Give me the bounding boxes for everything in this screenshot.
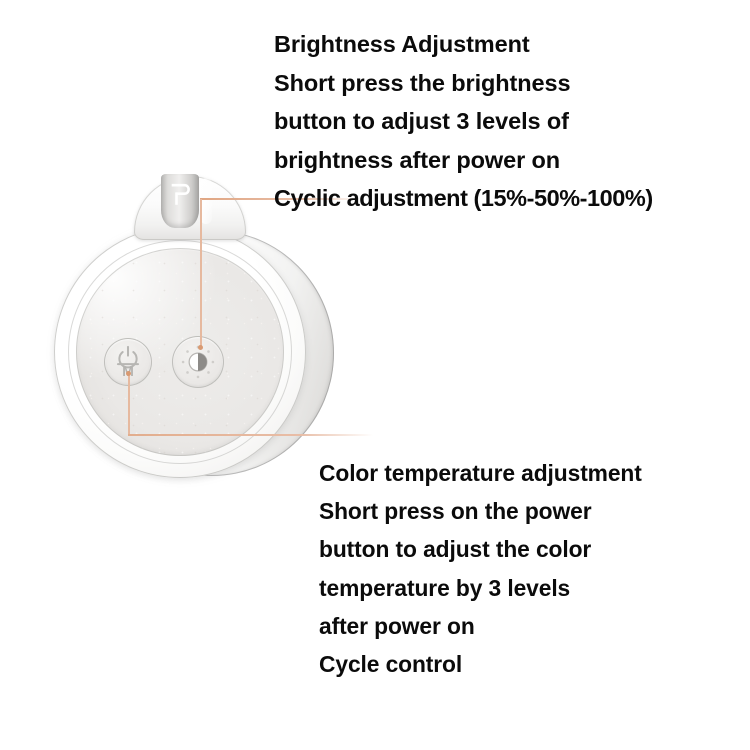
color-temperature-callout-line-6: Cycle control: [319, 645, 642, 683]
color-temperature-callout-line-5: after power on: [319, 607, 642, 645]
brightness-callout-line-2: Short press the brightness: [274, 64, 653, 103]
color-temperature-callout-title: Color temperature adjustment: [319, 454, 642, 492]
clip-highlight: [200, 178, 212, 224]
brightness-callout-line-5: Cyclic adjustment (15%-50%-100%): [274, 179, 653, 218]
brightness-callout-title: Brightness Adjustment: [274, 25, 653, 64]
brand-logo-icon: [167, 182, 193, 208]
leader-line-brightness-vertical: [200, 199, 202, 349]
color-temperature-callout-line-4: temperature by 3 levels: [319, 569, 642, 607]
brightness-callout-line-3: button to adjust 3 levels of: [274, 102, 653, 141]
device-clip: [134, 160, 246, 240]
color-temperature-callout-text: Color temperature adjustment Short press…: [319, 454, 642, 683]
product-instruction-image: M: [0, 0, 750, 750]
leader-line-color-temperature-horizontal: [128, 434, 373, 436]
color-temperature-callout-line-3: button to adjust the color: [319, 530, 642, 568]
brightness-button[interactable]: [172, 336, 224, 388]
brightness-callout-line-4: brightness after power on: [274, 141, 653, 180]
leader-anchor-color-temperature: [126, 371, 131, 376]
brightness-callout-text: Brightness Adjustment Short press the br…: [274, 25, 653, 218]
leader-line-color-temperature-vertical: [128, 374, 130, 435]
color-temperature-callout-line-2: Short press on the power: [319, 492, 642, 530]
leader-anchor-brightness: [198, 345, 203, 350]
